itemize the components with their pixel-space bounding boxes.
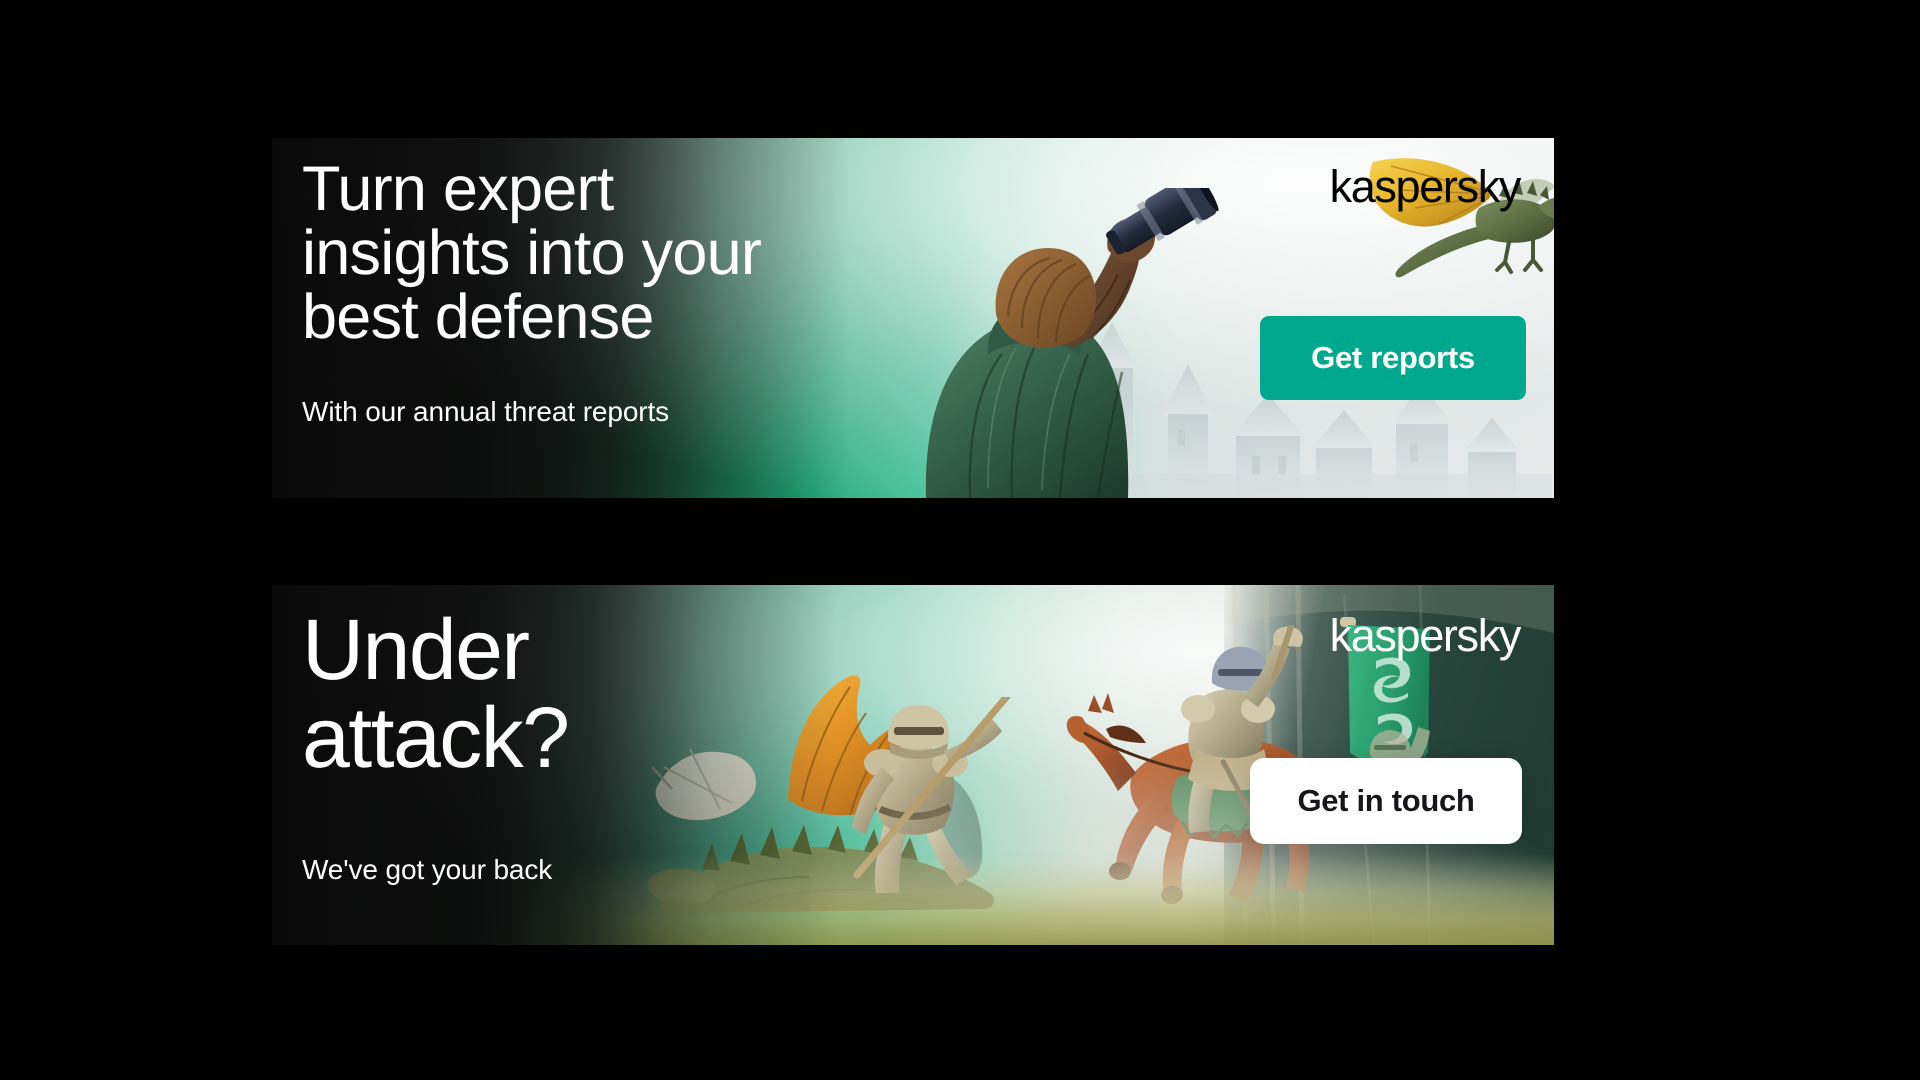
banner-under-attack[interactable]: Under attack? We've got your back kasper… xyxy=(272,585,1554,945)
banner-threat-reports[interactable]: Turn expert insights into your best defe… xyxy=(272,138,1554,498)
kaspersky-logo: kaspersky xyxy=(1330,164,1520,209)
get-in-touch-button[interactable]: Get in touch xyxy=(1250,758,1522,844)
page-canvas: Turn expert insights into your best defe… xyxy=(0,0,1920,1080)
get-reports-button[interactable]: Get reports xyxy=(1260,316,1526,400)
kaspersky-logo: kaspersky xyxy=(1330,613,1520,658)
